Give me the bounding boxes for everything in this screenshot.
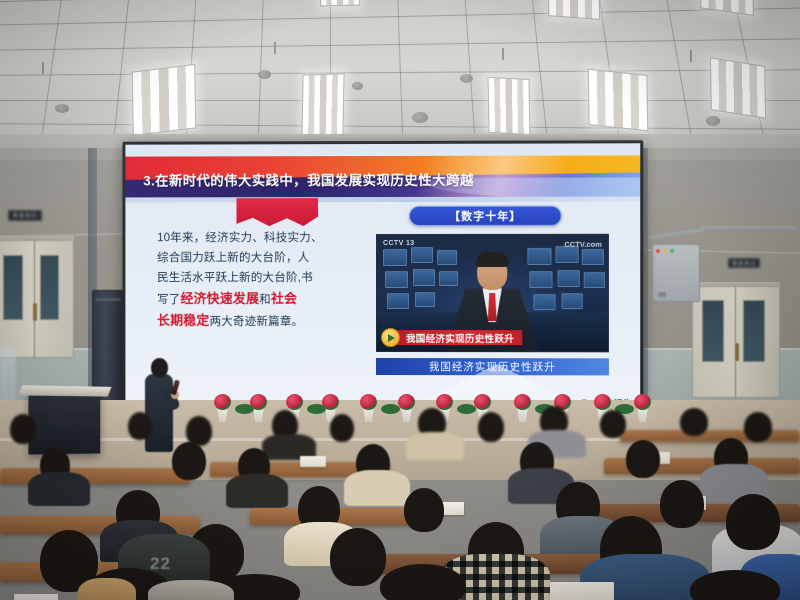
notebook (300, 456, 326, 467)
panel-indicator-lights (656, 249, 674, 253)
ceiling-speaker-dome (460, 74, 473, 83)
ceiling-light-panel (710, 57, 766, 119)
studio-monitor (527, 248, 551, 265)
embedded-news-video[interactable]: CCTV 13 CCTV.com 我国经济实现历史性跃升 (376, 234, 609, 353)
right-double-door[interactable] (692, 286, 780, 398)
exit-sign-left: 安全出口 (8, 210, 42, 221)
ceiling-light-panel (588, 69, 649, 132)
ceiling-light-panel (301, 73, 344, 137)
audience-shoulders (344, 470, 410, 506)
audience-head (10, 414, 36, 444)
video-title-pill: 【数字十年】 (409, 206, 562, 226)
panel-switch[interactable] (658, 292, 666, 297)
ceiling-hanger (502, 48, 504, 60)
fur-collar (148, 580, 234, 600)
body-line-4-mid: 和 (259, 293, 271, 306)
led-amber (663, 249, 667, 253)
audience-head (726, 494, 780, 550)
body-highlight-3: 长期稳定 (157, 313, 209, 328)
play-icon[interactable] (381, 328, 400, 347)
ceiling-hanger (42, 62, 44, 74)
studio-monitor (437, 250, 457, 265)
wall-light-strip (0, 346, 16, 402)
audience-shoulders (406, 432, 464, 460)
banner-bottom-strip (125, 197, 640, 203)
pa-speaker-left (92, 290, 124, 402)
audience-head (330, 528, 386, 586)
video-lower-third: 我国经济实现历史性跃升 (377, 329, 522, 346)
audience-head (626, 440, 660, 478)
studio-monitor (411, 247, 433, 263)
conduit-pipe (648, 228, 704, 239)
ceiling-speaker-dome (55, 104, 69, 113)
studio-monitor (562, 293, 583, 309)
ceiling-light-panel (132, 64, 197, 136)
ceiling-speaker-dome (352, 82, 363, 90)
projection-screen: 3.在新时代的伟大实践中，我国发展实现历史性大跨越 10年来，经济实力、科技实力… (122, 140, 643, 419)
open-book (550, 582, 614, 600)
ceiling-hanger (690, 50, 692, 62)
slide-banner-title: 3.在新时代的伟大实践中，我国发展实现历史性大跨越 (143, 169, 474, 190)
body-line-5-suffix: 两大奇迹新篇章。 (209, 315, 303, 328)
electrical-panel[interactable] (652, 244, 700, 302)
conduit-pipe (700, 226, 796, 229)
studio-monitor (529, 271, 552, 288)
ceiling-speaker-dome (706, 116, 720, 126)
studio-monitor (385, 271, 408, 288)
body-line-5: 长期稳定两大奇迹新篇章。 (157, 310, 336, 332)
body-line-2: 综合国力跃上新的大台阶，人 (157, 248, 336, 268)
lower-third-text: 我国经济实现历史性跃升 (394, 330, 522, 345)
audience-head (600, 410, 626, 438)
audience-head (744, 412, 772, 442)
led-green (670, 249, 674, 253)
ceiling-light-panel (488, 77, 531, 135)
lecture-hall-scene: 安全出口 安全出口 (0, 0, 800, 600)
audience-head (128, 412, 152, 440)
audience-head (680, 408, 708, 436)
anchor-hair (476, 252, 509, 267)
ceiling-speaker-dome (258, 70, 271, 79)
cctv-watermark: CCTV.com (564, 240, 602, 249)
audience-head (330, 414, 354, 442)
door-window (3, 255, 23, 320)
body-line-3: 民生活水平跃上新的大台阶,书 (157, 268, 336, 288)
lectern-top-surface (18, 385, 111, 396)
door-window (40, 255, 60, 320)
red-flag-graphic (236, 198, 318, 226)
ceiling (0, 0, 800, 152)
left-double-door[interactable] (0, 240, 74, 358)
body-highlight-1: 经济快速发展 (180, 291, 259, 306)
exit-sign-right: 安全出口 (728, 258, 760, 268)
door-handle[interactable] (735, 343, 739, 361)
body-line-4-prefix: 写了 (157, 293, 180, 306)
audience-head (380, 564, 466, 600)
audience-head (404, 488, 444, 532)
led-red (656, 249, 660, 253)
studio-monitor (413, 269, 435, 286)
studio-monitor (383, 249, 407, 266)
ceiling-speaker-dome (412, 112, 428, 123)
door-handle[interactable] (33, 303, 37, 321)
body-line-1: 10年来，经济实力、科技实力、 (157, 228, 336, 248)
studio-monitor (439, 271, 458, 286)
slide-banner: 3.在新时代的伟大实践中，我国发展实现历史性大跨越 (125, 155, 640, 202)
cctv-channel-logo: CCTV 13 (383, 240, 415, 247)
ceiling-light-panel (320, 0, 360, 6)
studio-monitor (584, 272, 605, 288)
audience-shoulders (28, 472, 90, 506)
body-line-4: 写了经济快速发展和社会 (157, 288, 336, 310)
hair-braid (78, 578, 136, 600)
audience-shoulders (226, 474, 288, 508)
studio-monitor (415, 292, 435, 307)
presentation-slide: 3.在新时代的伟大实践中，我国发展实现历史性大跨越 10年来，经济实力、科技实力… (125, 143, 640, 416)
audience-head (172, 442, 206, 480)
audience-head (478, 412, 504, 442)
studio-monitor (582, 249, 604, 265)
studio-monitor (558, 270, 580, 287)
open-book (14, 594, 58, 600)
door-window (702, 300, 724, 362)
audience-head (660, 480, 704, 528)
audience-area: 22 (0, 404, 800, 600)
ceiling-tile-grid (0, 0, 800, 152)
studio-monitor (533, 294, 555, 310)
presenter-head (151, 358, 168, 377)
studio-monitor (387, 293, 409, 309)
body-highlight-2: 社会 (271, 291, 297, 306)
door-window (743, 300, 765, 362)
slide-body-text: 10年来，经济实力、科技实力、 综合国力跃上新的大台阶，人 民生活水平跃上新的大… (157, 228, 336, 332)
ceiling-hanger (274, 42, 276, 54)
